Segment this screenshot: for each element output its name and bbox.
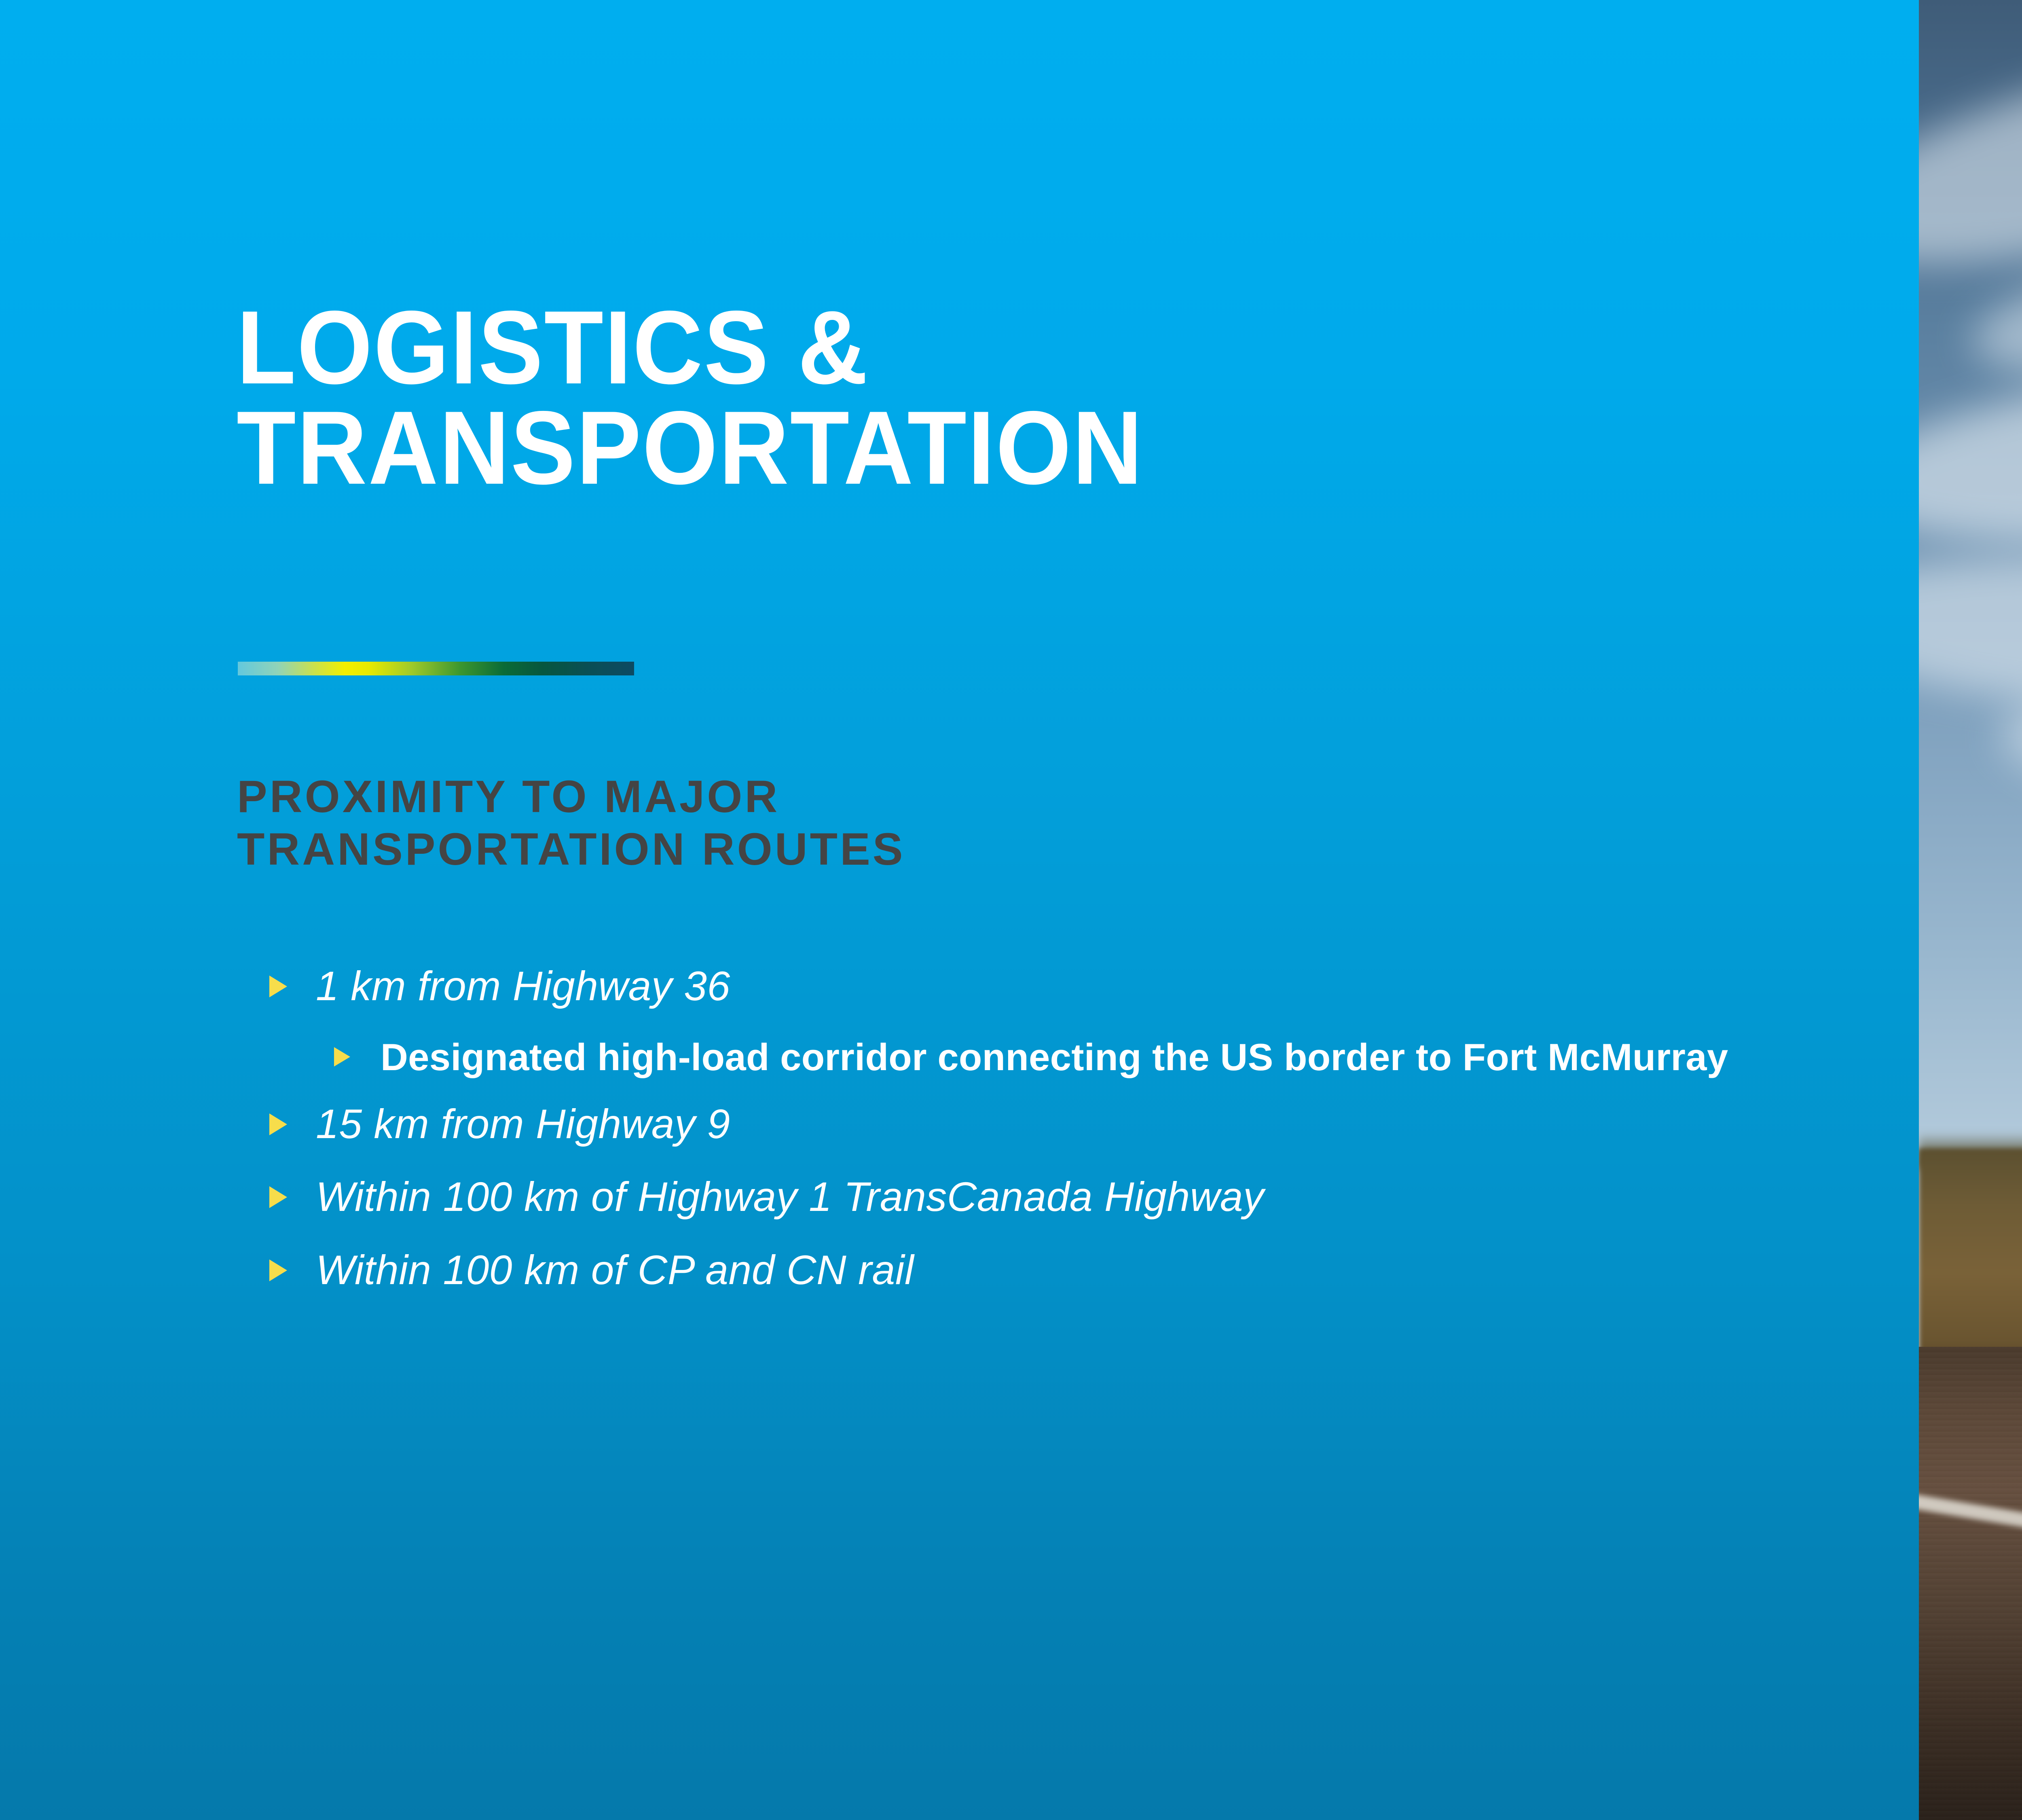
- bullet-text: Within 100 km of CP and CN rail: [316, 1243, 1855, 1316]
- sub-bullet-text: Designated high-load corridor connecting…: [381, 1033, 1796, 1097]
- red-semi-truck: [1919, 0, 2022, 1820]
- bullet-text: Within 100 km of Highway 1 TransCanada H…: [316, 1170, 1855, 1243]
- list-item: 1 km from Highway 36: [237, 959, 1855, 1033]
- bullet-list: 1 km from Highway 36 Designated high-loa…: [237, 959, 1855, 1316]
- slide: LOGISTICS & TRANSPORTATION PROXIMITY TO …: [0, 0, 2022, 1820]
- gradient-accent-bar: [238, 662, 634, 675]
- list-item: 15 km from Highway 9: [237, 1097, 1855, 1170]
- bullet-triangle-icon: [334, 1047, 350, 1067]
- page-title: LOGISTICS & TRANSPORTATION: [237, 297, 1628, 497]
- content-panel: LOGISTICS & TRANSPORTATION PROXIMITY TO …: [0, 0, 1919, 1820]
- bullet-triangle-icon: [269, 976, 287, 997]
- bullet-triangle-icon: [269, 1113, 287, 1135]
- list-item: Within 100 km of Highway 1 TransCanada H…: [237, 1170, 1855, 1243]
- section-subtitle: PROXIMITY TO MAJOR TRANSPORTATION ROUTES: [237, 770, 1571, 876]
- bullet-triangle-icon: [269, 1259, 287, 1281]
- truck-photo: [1919, 0, 2022, 1820]
- list-item: Within 100 km of CP and CN rail: [237, 1243, 1855, 1316]
- bullet-text: 15 km from Highway 9: [316, 1097, 1855, 1170]
- bullet-triangle-icon: [269, 1186, 287, 1208]
- list-item: Designated high-load corridor connecting…: [237, 1033, 1855, 1097]
- bullet-text: 1 km from Highway 36: [316, 959, 1855, 1033]
